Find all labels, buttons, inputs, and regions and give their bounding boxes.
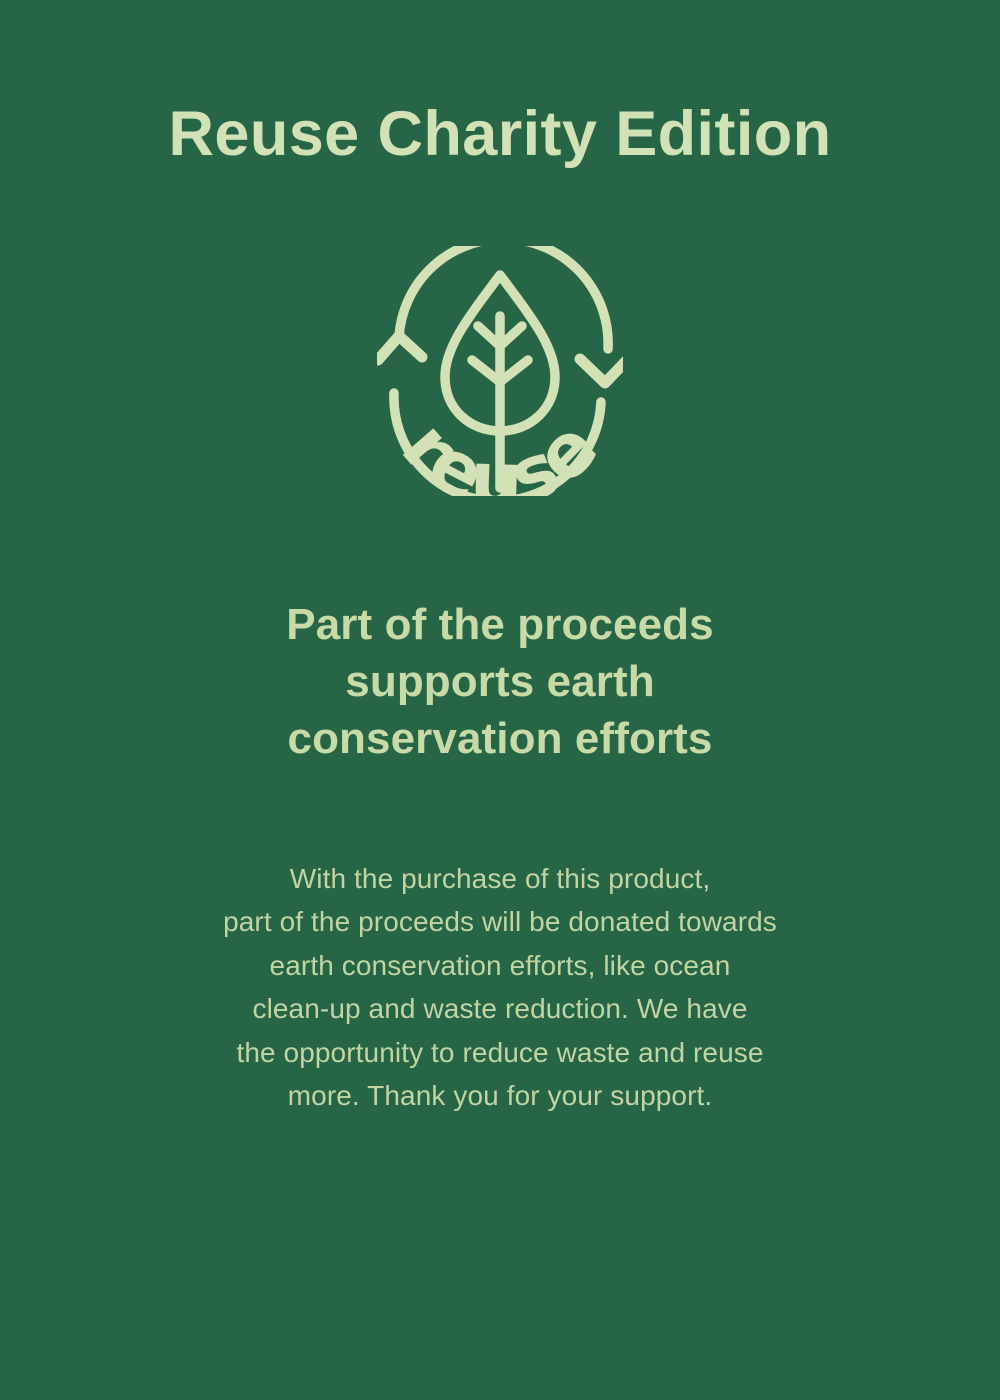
body-line: the opportunity to reduce waste and reus… [110,1031,890,1075]
subheading-line: supports earth [150,653,850,710]
body-line: part of the proceeds will be donated tow… [110,900,890,944]
body-line: With the purchase of this product, [110,857,890,901]
body-line: more. Thank you for your support. [110,1074,890,1118]
arrow-up-head [378,336,422,360]
reuse-logo: reuse [377,246,623,496]
body-line: clean-up and waste reduction. We have [110,987,890,1031]
page-title: Reuse Charity Edition [168,101,831,168]
subheading-line: conservation efforts [150,710,850,767]
subheading: Part of the proceeds supports earth cons… [150,596,850,767]
arrow-down-head [580,359,623,383]
body-line: earth conservation efforts, like ocean [110,944,890,988]
body-paragraph: With the purchase of this product, part … [110,857,890,1118]
recycle-leaf-icon: reuse [377,246,623,496]
charity-edition-poster: Reuse Charity Edition [0,0,1000,1400]
subheading-line: Part of the proceeds [150,596,850,653]
